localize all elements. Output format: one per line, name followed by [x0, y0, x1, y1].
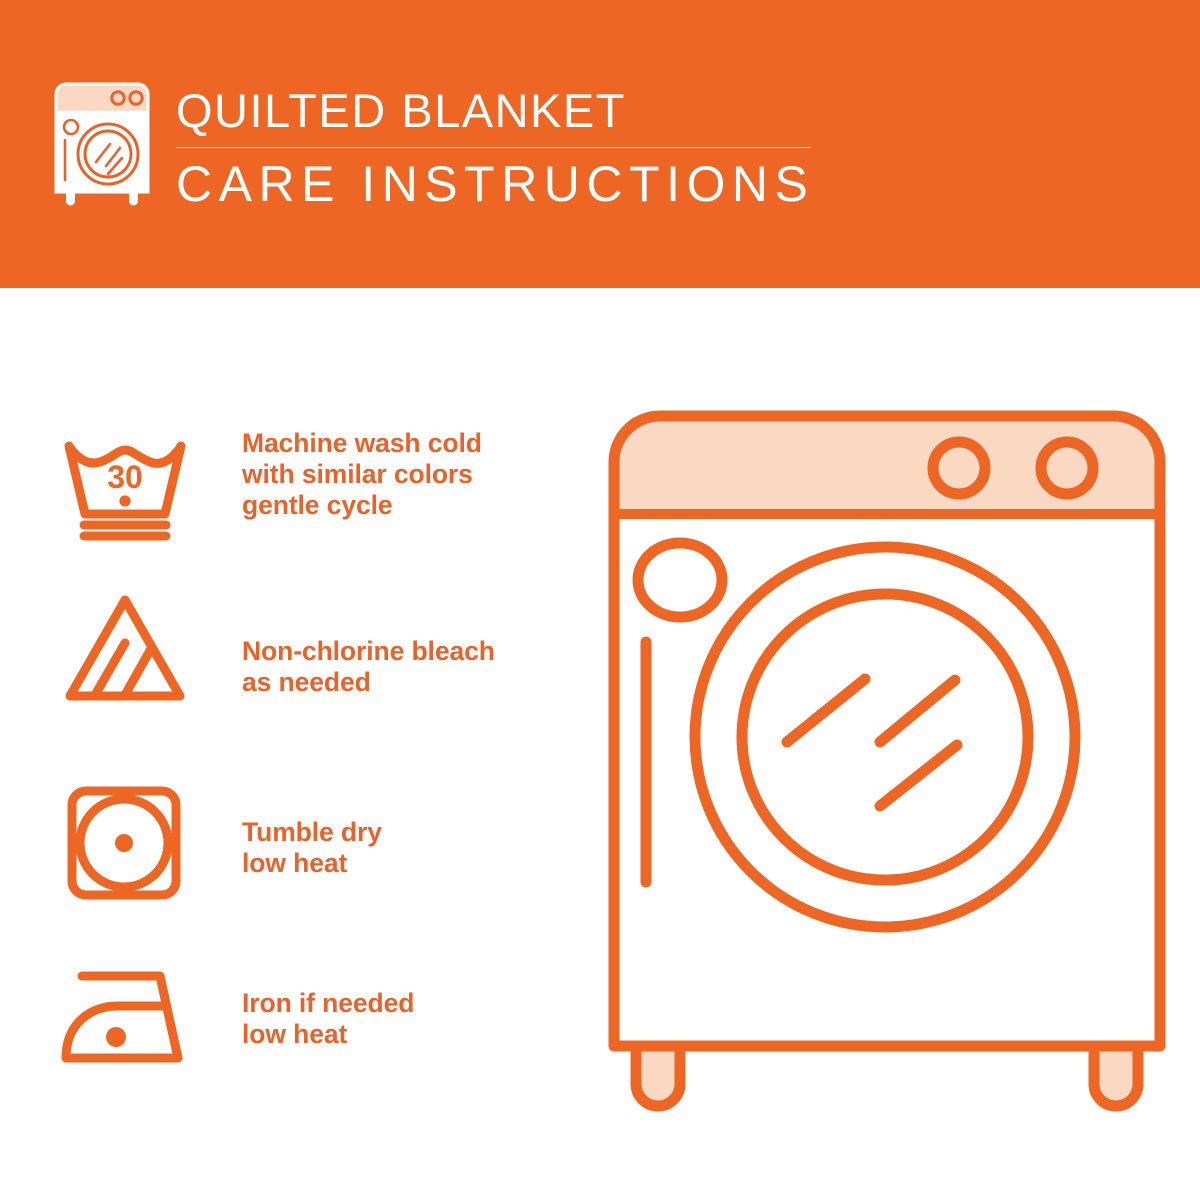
- door-streaks: [787, 679, 957, 806]
- washing-machine-icon: [52, 82, 152, 208]
- triangle-stripes-bleach-icon: [60, 588, 190, 708]
- care-item-label: Tumble dry low heat: [190, 783, 382, 879]
- front-load-washing-machine-illustration: [602, 404, 1172, 1116]
- wash-basin-30-gentle-icon: 30: [60, 422, 190, 542]
- indicator-light: [638, 543, 722, 617]
- page-subtitle: CARE INSTRUCTIONS: [176, 154, 816, 214]
- foot-left: [636, 1046, 680, 1106]
- care-item-label: Iron if needed low heat: [190, 958, 414, 1050]
- care-item-label: Machine wash cold with similar colors ge…: [190, 422, 482, 521]
- care-item-label: Non-chlorine bleach as needed: [190, 588, 495, 698]
- care-item-bleach: Non-chlorine bleach as needed: [60, 588, 580, 708]
- tumble-dry-low-icon: [60, 783, 190, 903]
- care-item-tumble-dry: Tumble dry low heat: [60, 783, 580, 903]
- header-banner: QUILTED BLANKET CARE INSTRUCTIONS: [0, 0, 1200, 288]
- page-title: QUILTED BLANKET: [176, 82, 816, 140]
- title-divider: [176, 147, 811, 148]
- header-title-group: QUILTED BLANKET CARE INSTRUCTIONS: [176, 82, 816, 214]
- care-item-iron: Iron if needed low heat: [60, 958, 580, 1078]
- control-panel: [614, 416, 1160, 514]
- wash-temperature-label: 30: [107, 459, 143, 495]
- care-item-machine-wash: 30 Machine wash cold with similar colors…: [60, 422, 580, 542]
- iron-low-heat-icon: [60, 958, 190, 1078]
- foot-right: [1094, 1046, 1138, 1106]
